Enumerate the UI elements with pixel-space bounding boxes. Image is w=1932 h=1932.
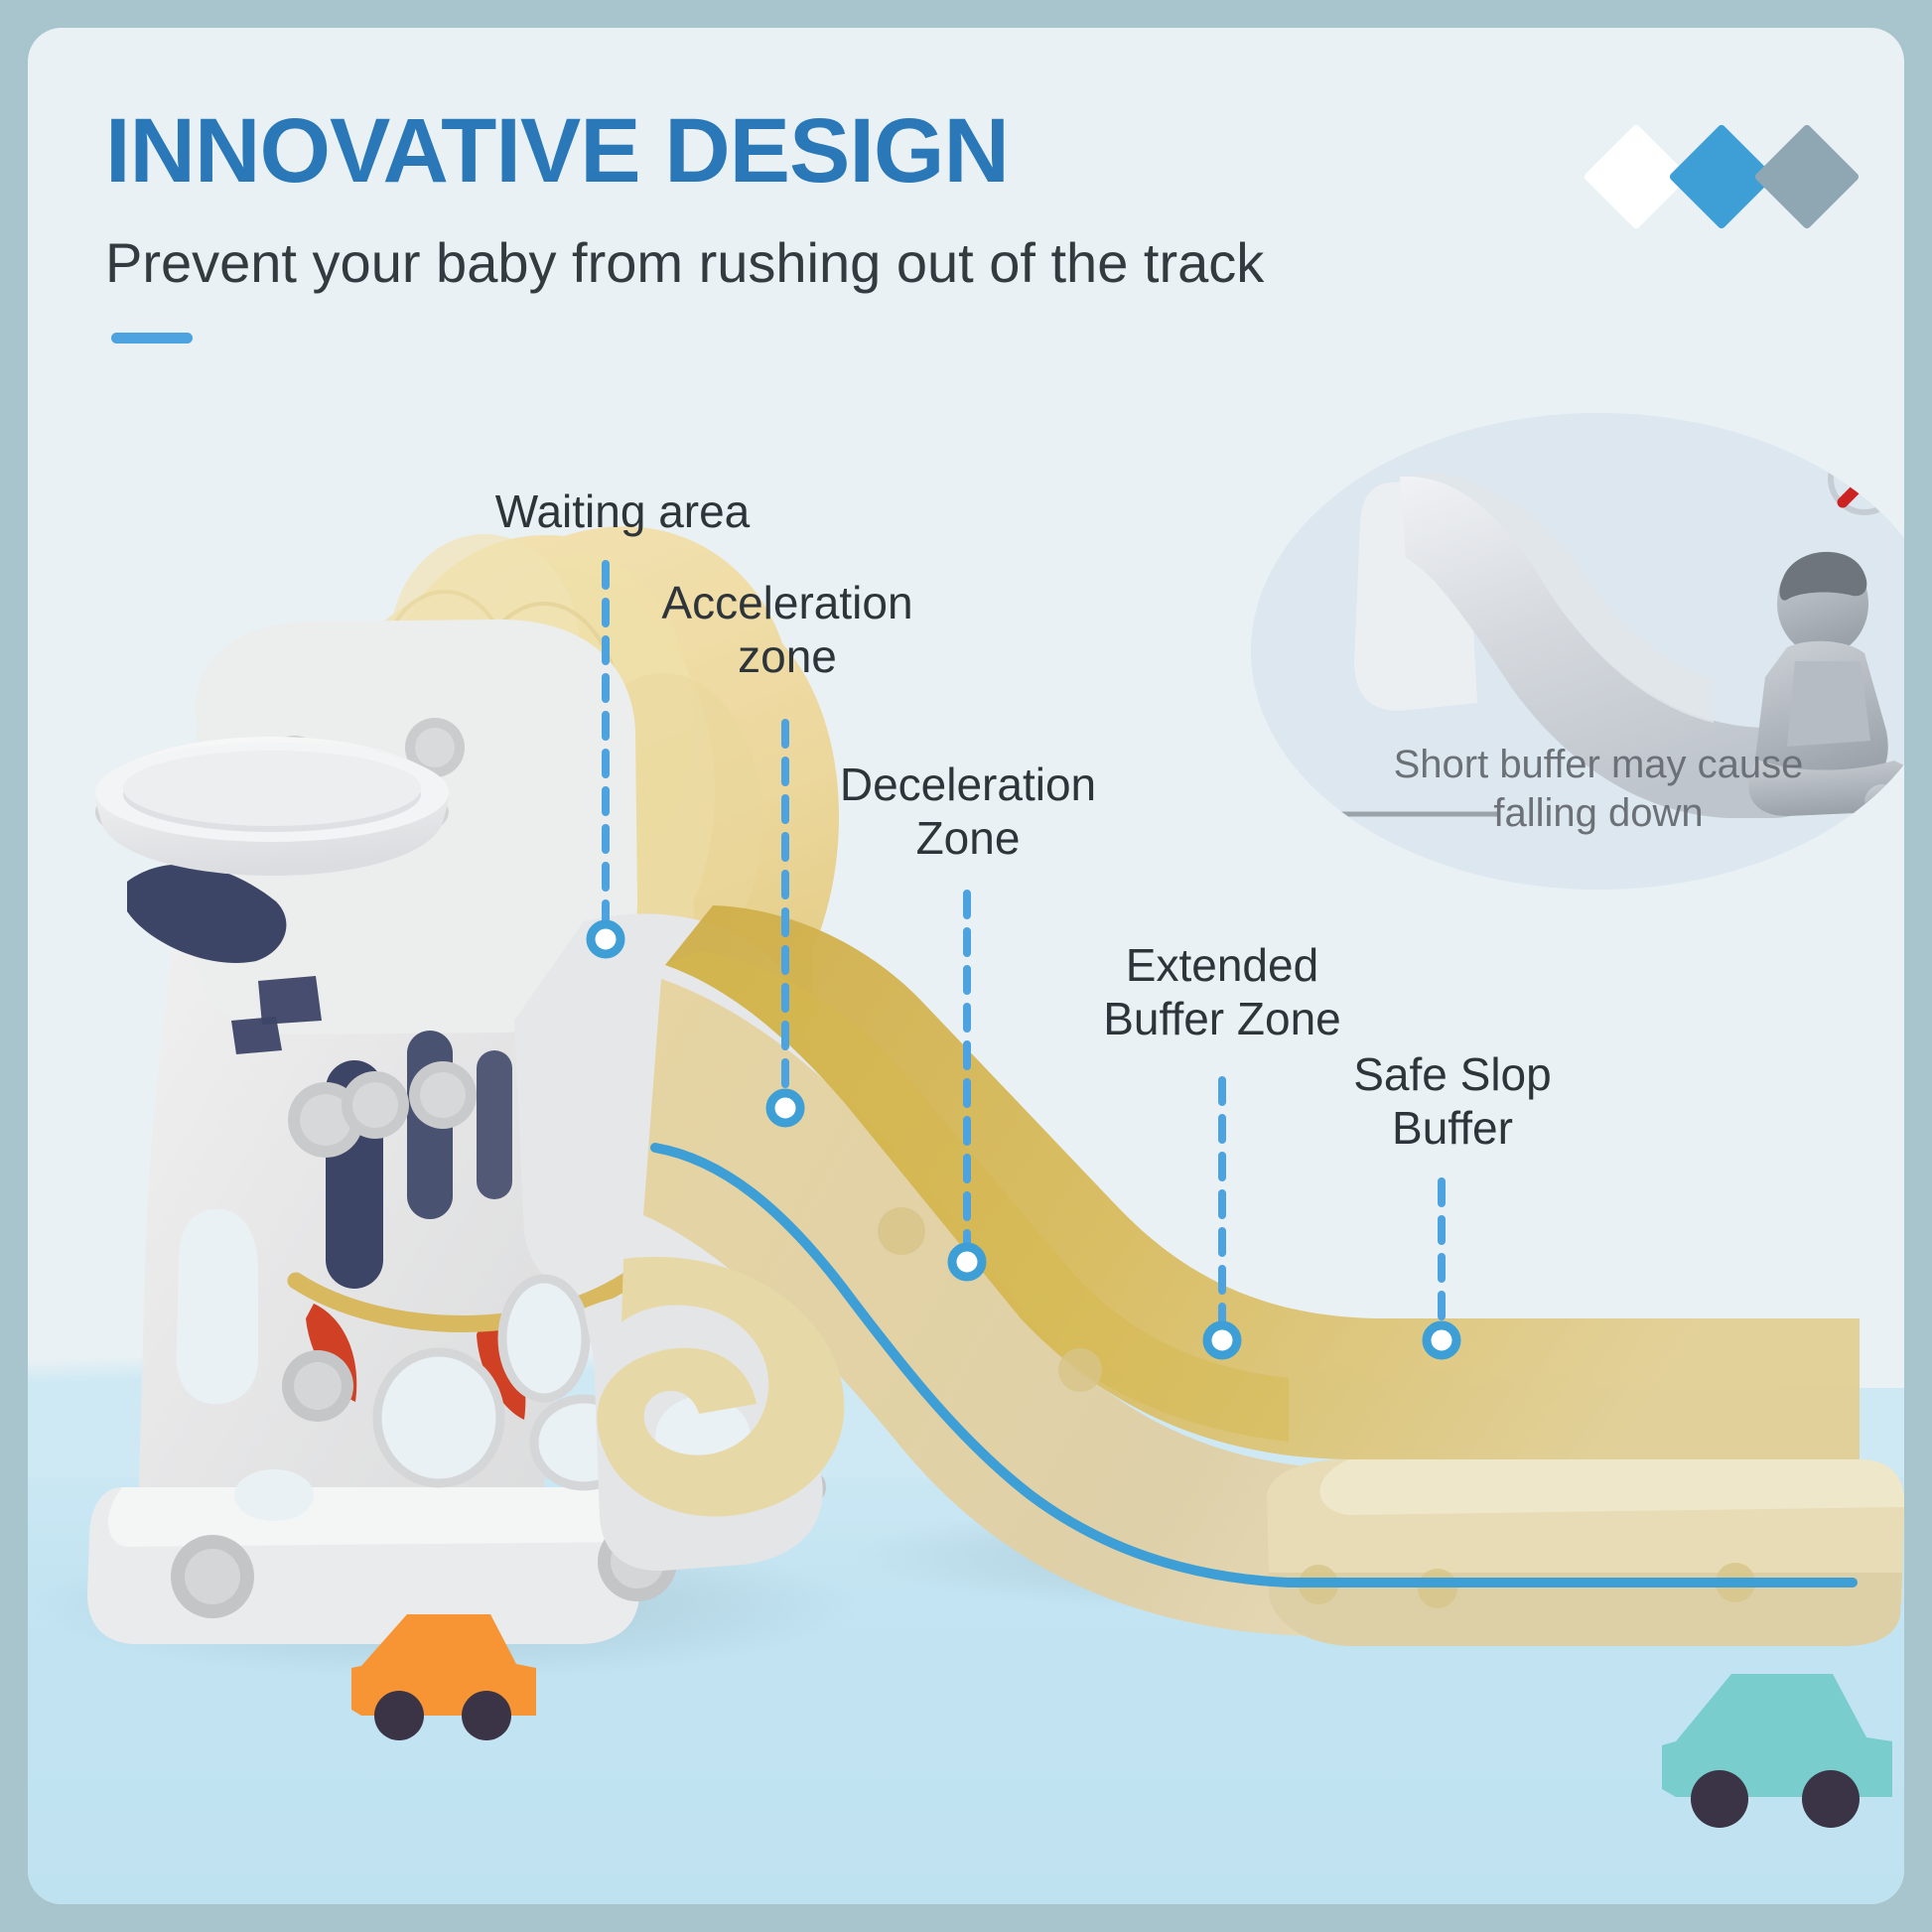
diamond-gray-icon xyxy=(1753,123,1860,229)
content-panel: INNOVATIVE DESIGN Prevent your baby from… xyxy=(28,28,1904,1904)
callout-label-deceleration-zone: Deceleration Zone xyxy=(794,758,1142,866)
page-subtitle: Prevent your baby from rushing out of th… xyxy=(105,230,1264,295)
page-title: INNOVATIVE DESIGN xyxy=(105,105,1264,197)
inset-caption: Short buffer may cause falling down xyxy=(1251,741,1904,838)
diamond-decoration xyxy=(1598,139,1845,214)
page-frame: INNOVATIVE DESIGN Prevent your baby from… xyxy=(0,0,1932,1932)
callout-label-waiting-area: Waiting area xyxy=(474,484,771,538)
callout-label-safe-slop-buffer: Safe Slop Buffer xyxy=(1309,1047,1596,1156)
callout-label-extended-buffer-zone: Extended Buffer Zone xyxy=(1048,938,1396,1046)
callout-label-acceleration-zone: Acceleration zone xyxy=(614,576,961,684)
accent-bar xyxy=(111,333,193,344)
top-bowl xyxy=(95,737,449,876)
car-teal xyxy=(1662,1674,1892,1828)
header-block: INNOVATIVE DESIGN Prevent your baby from… xyxy=(105,105,1264,344)
inset-warning-bubble: Short buffer may cause falling down xyxy=(1251,413,1904,890)
